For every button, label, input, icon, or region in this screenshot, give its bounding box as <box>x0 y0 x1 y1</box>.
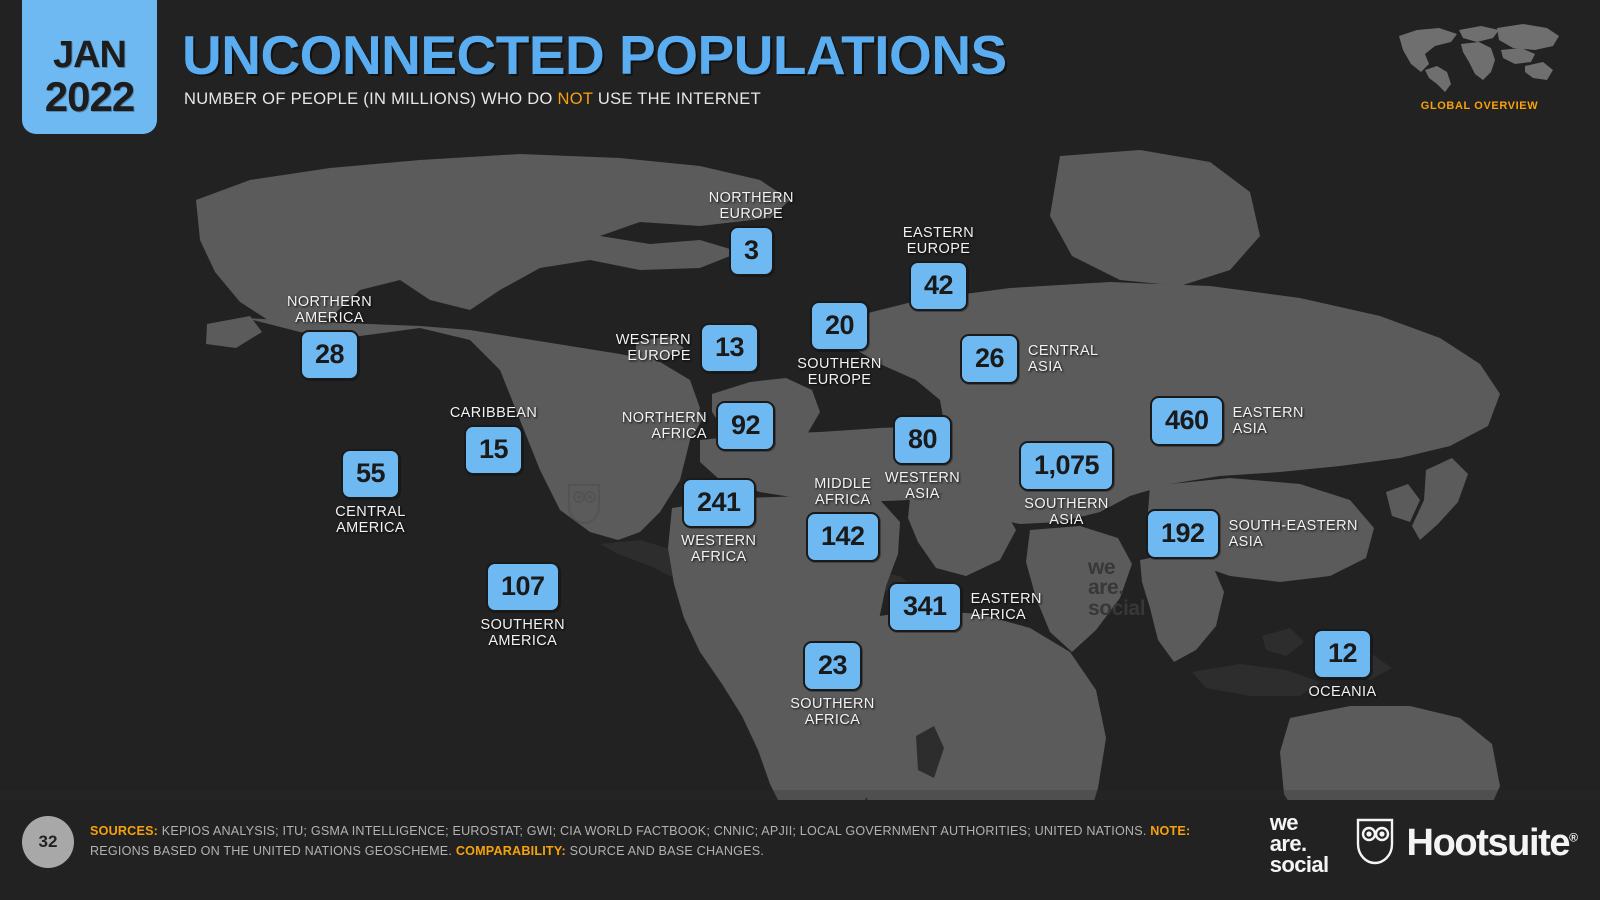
marker-label-northern-africa: NORTHERNAFRICA <box>622 410 707 442</box>
hootsuite-registered-mark: ® <box>1569 831 1578 845</box>
marker-label-southern-europe: SOUTHERNEUROPE <box>797 356 882 388</box>
comparability-text: SOURCE AND BASE CHANGES. <box>566 844 764 858</box>
marker-value-southern-europe: 20 <box>810 301 869 351</box>
marker-value-northern-europe: 3 <box>729 226 774 276</box>
was-line-2: are. <box>1270 833 1329 854</box>
subtitle-part-2: USE THE INTERNET <box>593 90 761 108</box>
hootsuite-logo: Hootsuite® <box>1355 816 1578 871</box>
header: JAN 2022 UNCONNECTED POPULATIONS NUMBER … <box>0 0 1600 140</box>
marker-value-middle-africa: 142 <box>806 512 880 562</box>
marker-value-southern-america: 107 <box>486 562 560 612</box>
date-badge: JAN 2022 <box>22 0 157 134</box>
marker-label-central-america: CENTRALAMERICA <box>335 504 405 536</box>
subtitle-part-1: NUMBER OF PEOPLE (IN MILLIONS) WHO DO <box>184 90 558 108</box>
page-subtitle: NUMBER OF PEOPLE (IN MILLIONS) WHO DO NO… <box>184 90 761 109</box>
marker-value-eastern-africa: 341 <box>888 582 962 632</box>
marker-value-southern-asia: 1,075 <box>1019 441 1114 491</box>
global-overview-thumbnail: GLOBAL OVERVIEW <box>1387 20 1572 130</box>
marker-label-eastern-europe: EASTERNEUROPE <box>903 225 974 257</box>
note-text: REGIONS BASED ON THE UNITED NATIONS GEOS… <box>90 844 456 858</box>
sources-label: SOURCES: <box>90 824 158 838</box>
map-marker-southern-america[interactable]: 107SOUTHERNAMERICA <box>486 562 560 612</box>
we-are-social-watermark: weare.social <box>1088 558 1145 619</box>
hootsuite-wordmark: Hootsuite® <box>1407 822 1578 865</box>
map-marker-caribbean[interactable]: 15CARIBBEAN <box>464 425 523 475</box>
marker-label-western-asia: WESTERNASIA <box>885 470 960 502</box>
comparability-label: COMPARABILITY: <box>456 844 566 858</box>
marker-value-western-europe: 13 <box>700 323 759 373</box>
was-line-3: social <box>1270 854 1329 875</box>
map-marker-southern-africa[interactable]: 23SOUTHERNAFRICA <box>803 641 862 691</box>
marker-label-southern-asia: SOUTHERNASIA <box>1024 496 1109 528</box>
hootsuite-text: Hootsuite <box>1407 822 1570 864</box>
marker-value-caribbean: 15 <box>464 425 523 475</box>
global-overview-label: GLOBAL OVERVIEW <box>1387 100 1572 112</box>
we-are-social-logo: we are. social <box>1270 812 1329 875</box>
subtitle-highlight-not: NOT <box>558 90 593 108</box>
map-marker-middle-africa[interactable]: 142MIDDLEAFRICA <box>806 512 880 562</box>
map-marker-southern-asia[interactable]: 1,075SOUTHERNASIA <box>1019 441 1114 491</box>
note-label: NOTE: <box>1150 824 1190 838</box>
date-month: JAN <box>53 36 126 74</box>
map-marker-northern-america[interactable]: 28NORTHERNAMERICA <box>300 330 359 380</box>
map-marker-eastern-europe[interactable]: 42EASTERNEUROPE <box>909 261 968 311</box>
marker-label-northern-america: NORTHERNAMERICA <box>287 294 372 326</box>
marker-value-oceania: 12 <box>1313 629 1372 679</box>
marker-label-eastern-asia: EASTERNASIA <box>1233 405 1304 437</box>
marker-label-western-europe: WESTERNEUROPE <box>616 332 691 364</box>
map-marker-northern-europe[interactable]: 3NORTHERNEUROPE <box>729 226 774 276</box>
marker-value-southern-africa: 23 <box>803 641 862 691</box>
marker-label-eastern-africa: EASTERNAFRICA <box>971 591 1042 623</box>
marker-value-western-africa: 241 <box>682 478 756 528</box>
marker-label-south-eastern-asia: SOUTH-EASTERNASIA <box>1229 518 1358 550</box>
marker-value-central-asia: 26 <box>960 334 1019 384</box>
page-title: UNCONNECTED POPULATIONS <box>182 28 1007 83</box>
map-marker-south-eastern-asia[interactable]: 192SOUTH-EASTERNASIA <box>1146 509 1220 559</box>
map-marker-oceania[interactable]: 12OCEANIA <box>1313 629 1372 679</box>
map-marker-western-africa[interactable]: 241WESTERNAFRICA <box>682 478 756 528</box>
map-marker-eastern-asia[interactable]: 460EASTERNASIA <box>1150 396 1224 446</box>
date-year: 2022 <box>45 76 134 118</box>
marker-label-central-asia: CENTRALASIA <box>1028 343 1098 375</box>
marker-label-middle-africa: MIDDLEAFRICA <box>814 476 871 508</box>
map-marker-eastern-africa[interactable]: 341EASTERNAFRICA <box>888 582 962 632</box>
marker-label-southern-america: SOUTHERNAMERICA <box>480 617 565 649</box>
map-marker-western-asia[interactable]: 80WESTERNASIA <box>893 415 952 465</box>
marker-value-eastern-europe: 42 <box>909 261 968 311</box>
marker-value-south-eastern-asia: 192 <box>1146 509 1220 559</box>
map-marker-central-asia[interactable]: 26CENTRALASIA <box>960 334 1019 384</box>
page-number-badge: 32 <box>22 816 74 868</box>
footer: 32 SOURCES: KEPIOS ANALYSIS; ITU; GSMA I… <box>0 800 1600 900</box>
marker-label-northern-europe: NORTHERNEUROPE <box>709 190 794 222</box>
map-marker-northern-africa[interactable]: 92NORTHERNAFRICA <box>716 401 775 451</box>
marker-value-central-america: 55 <box>341 449 400 499</box>
sources-text: KEPIOS ANALYSIS; ITU; GSMA INTELLIGENCE;… <box>158 824 1150 838</box>
marker-label-western-africa: WESTERNAFRICA <box>681 533 756 565</box>
map-marker-western-europe[interactable]: 13WESTERNEUROPE <box>700 323 759 373</box>
footer-logos: we are. social Hootsuite® <box>1270 812 1578 875</box>
sources-note: SOURCES: KEPIOS ANALYSIS; ITU; GSMA INTE… <box>90 822 1230 861</box>
marker-label-caribbean: CARIBBEAN <box>450 405 537 421</box>
marker-value-western-asia: 80 <box>893 415 952 465</box>
map-marker-southern-europe[interactable]: 20SOUTHERNEUROPE <box>810 301 869 351</box>
marker-value-northern-africa: 92 <box>716 401 775 451</box>
marker-value-eastern-asia: 460 <box>1150 396 1224 446</box>
marker-label-oceania: OCEANIA <box>1308 684 1376 700</box>
owl-watermark <box>566 481 602 525</box>
was-line-1: we <box>1270 812 1329 833</box>
map-marker-central-america[interactable]: 55CENTRALAMERICA <box>341 449 400 499</box>
marker-label-southern-africa: SOUTHERNAFRICA <box>790 696 875 728</box>
hootsuite-owl-icon <box>1355 816 1395 871</box>
marker-value-northern-america: 28 <box>300 330 359 380</box>
